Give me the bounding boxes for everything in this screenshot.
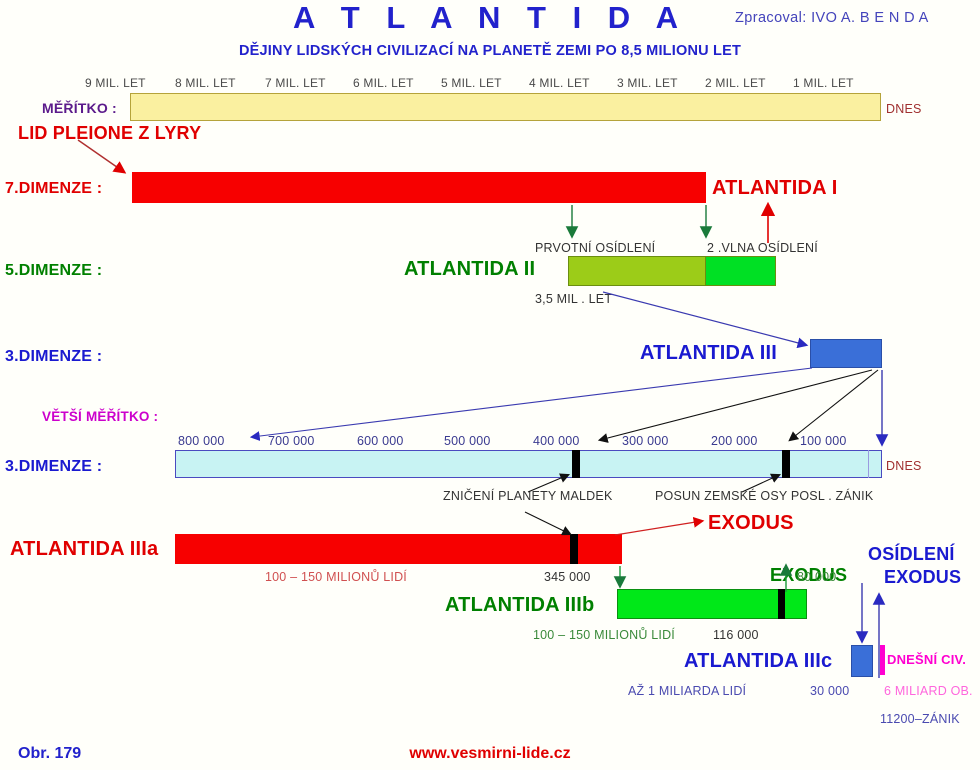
dim3-big-today-label: DNES: [886, 459, 922, 473]
big-tick-700000: 700 000: [268, 434, 315, 448]
atlantida-ii-bar-second-wave: [706, 256, 776, 286]
exodus-label-iiia: EXODUS: [708, 512, 794, 535]
marker-axis-shift: [782, 450, 790, 478]
big-tick-500000: 500 000: [444, 434, 491, 448]
atlantida-iiic-population: AŽ 1 MILIARDA LIDÍ: [628, 684, 746, 698]
dim7-bar-atlantida-i: [132, 172, 706, 203]
dim3-small-row-label: 3.DIMENZE :: [5, 348, 102, 366]
arrow-iii-to-100000: [790, 370, 878, 440]
website-url: www.vesmirni-lide.cz: [0, 745, 980, 763]
today-civ-population: 6 MILIARD OB.: [884, 684, 973, 698]
exodus-label-iiic: EXODUS: [884, 567, 961, 588]
big-tick-100000: 100 000: [800, 434, 847, 448]
first-settlement-note: PRVOTNÍ OSÍDLENÍ: [535, 241, 655, 255]
pleione-people-label: LID PLEIONE Z LYRY: [18, 123, 201, 144]
atlantida-iiib-population: 100 – 150 MILIONŮ LIDÍ: [533, 628, 675, 642]
exodus-year-iiib: 80 000: [797, 570, 836, 584]
atlantida-iii-bar: [810, 339, 882, 368]
atlantida-iiia-bar: [175, 534, 622, 564]
author-credit: Zpracoval: IVO A. B E N D A: [735, 10, 929, 26]
atlantida-iiia-population: 100 – 150 MILIONŮ LIDÍ: [265, 570, 407, 584]
atlantida-iiia-end-year: 345 000: [544, 570, 591, 584]
marker-today-line: [868, 450, 869, 478]
bigger-scale-label: VĚTŠÍ MĚŘÍTKO :: [42, 409, 158, 424]
big-tick-200000: 200 000: [711, 434, 758, 448]
atlantida-timeline-diagram: A T L A N T I D A Zpracoval: IVO A. B E …: [0, 0, 980, 770]
scale-tick-5mil: 5 MIL. LET: [441, 76, 502, 90]
second-wave-note: 2 .VLNA OSÍDLENÍ: [707, 241, 818, 255]
dim5-row-label: 5.DIMENZE :: [5, 262, 102, 280]
dim3-big-row-label: 3.DIMENZE :: [5, 458, 102, 476]
big-tick-300000: 300 000: [622, 434, 669, 448]
scale-today-label: DNES: [886, 102, 922, 116]
arrow-iii-to-800000: [252, 368, 812, 437]
scale-tick-4mil: 4 MIL. LET: [529, 76, 590, 90]
scale-bar: [130, 93, 881, 121]
atlantida-iiic-bar: [851, 645, 873, 677]
atlantida-iiia-label: ATLANTIDA IIIa: [10, 538, 158, 561]
atlantida-iii-label: ATLANTIDA III: [640, 342, 777, 365]
maldek-destruction-note: ZNIČENÍ PLANETY MALDEK: [443, 489, 613, 503]
scale-row-label: MĚŘÍTKO :: [42, 100, 117, 116]
dim3-big-timeline-bar: [175, 450, 882, 478]
settlement-label-iiic: OSÍDLENÍ: [868, 544, 955, 565]
scale-tick-2mil: 2 MIL. LET: [705, 76, 766, 90]
atlantida-iiic-label: ATLANTIDA IIIc: [684, 650, 832, 673]
atlantida-iiib-label: ATLANTIDA IIIb: [445, 594, 594, 617]
atlantida-iiia-end-marker: [570, 534, 578, 564]
arrow-pleione-to-dim7: [78, 140, 124, 172]
today-civ-label: DNEŠNÍ CIV.: [887, 652, 966, 667]
scale-tick-1mil: 1 MIL. LET: [793, 76, 854, 90]
atlantida-ii-bar-first-wave: [568, 256, 706, 286]
marker-maldek-destruction: [572, 450, 580, 478]
atlantida-iiic-end-year: 30 000: [810, 684, 849, 698]
atlantida-iiib-end-marker: [778, 589, 785, 619]
scale-tick-9mil: 9 MIL. LET: [85, 76, 146, 90]
atlantida-i-label: ATLANTIDA I: [712, 177, 838, 200]
today-civ-marker: [880, 645, 885, 675]
axis-shift-note: POSUN ZEMSKÉ OSY POSL . ZÁNIK: [655, 489, 873, 503]
today-civ-end-note: 11200–ZÁNIK: [880, 712, 960, 726]
big-tick-600000: 600 000: [357, 434, 404, 448]
dim7-row-label: 7.DIMENZE :: [5, 180, 102, 198]
arrow-exodus-iiia: [615, 521, 702, 535]
atlantida-ii-duration-note: 3,5 MIL . LET: [535, 292, 612, 306]
atlantida-iiib-end-year: 116 000: [713, 628, 759, 642]
scale-tick-6mil: 6 MIL. LET: [353, 76, 414, 90]
arrow-iii-to-300000: [600, 370, 872, 440]
big-tick-400000: 400 000: [533, 434, 580, 448]
page-subtitle: DĚJINY LIDSKÝCH CIVILIZACÍ NA PLANETĚ ZE…: [0, 43, 980, 59]
arrow-atlantida-ii-to-iii: [603, 292, 806, 345]
scale-tick-8mil: 8 MIL. LET: [175, 76, 236, 90]
atlantida-ii-label: ATLANTIDA II: [404, 258, 535, 281]
scale-tick-3mil: 3 MIL. LET: [617, 76, 678, 90]
scale-tick-7mil: 7 MIL. LET: [265, 76, 326, 90]
arrow-to-iiia-marker: [525, 512, 570, 534]
big-tick-800000: 800 000: [178, 434, 225, 448]
